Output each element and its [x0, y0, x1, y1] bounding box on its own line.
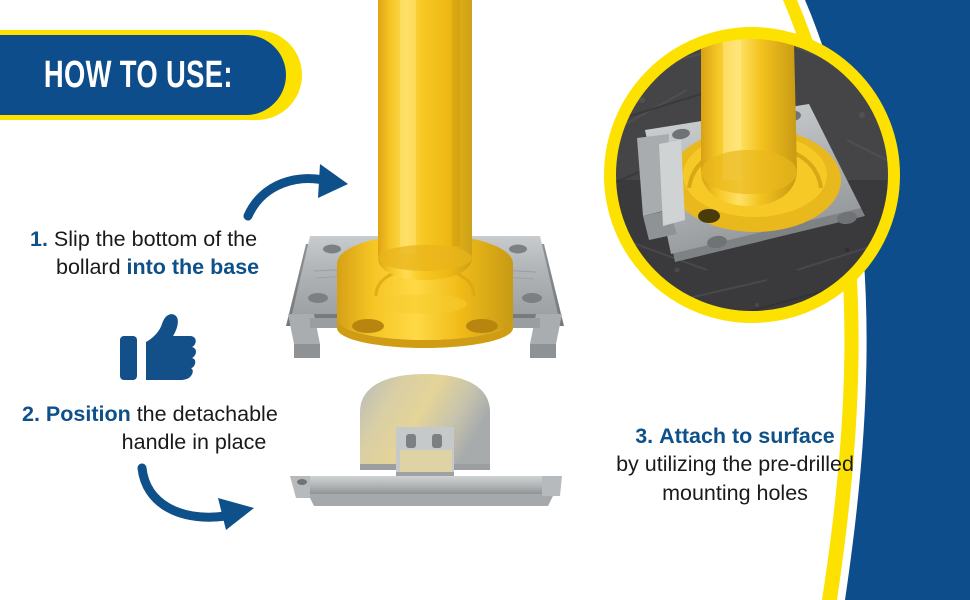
step-3-line1-highlight: Attach to surface [659, 424, 835, 448]
mounting-hole [308, 293, 328, 303]
inset-tube-join [701, 150, 797, 194]
header-banner: HOW TO USE: [0, 30, 302, 120]
arrow1-head [318, 164, 348, 198]
step-1-line2-highlight: into the base [127, 255, 260, 279]
inset-bracket-face [659, 140, 685, 226]
tube-shadow [452, 0, 460, 246]
bracket-slot-left [406, 434, 416, 448]
handle-bar-front [308, 494, 554, 506]
base-slot-right [466, 319, 498, 333]
step-1-number: 1. [30, 227, 48, 251]
mounting-hole [522, 293, 542, 303]
step-1-line1: Slip the bottom of the [54, 227, 257, 251]
thumb-cuff [120, 336, 137, 380]
curved-arrow-down-right-icon [132, 458, 282, 542]
thumbs-up-icon [118, 312, 198, 386]
step-2-line1-plain: the detachable [131, 402, 278, 426]
tube-highlight [400, 0, 416, 254]
base-tab-right-foot [530, 344, 556, 358]
tube-base-join [378, 245, 472, 271]
step-1-line2-plain: bollard [56, 255, 127, 279]
base-slot-left [352, 319, 384, 333]
mounting-hole [509, 245, 527, 254]
bracket-slot-right [432, 434, 442, 448]
handle-bar-hole [297, 479, 307, 485]
step-3-line3: mounting holes [662, 481, 808, 505]
inset-circle-photo [597, 20, 907, 330]
base-tab-left-foot [294, 344, 320, 358]
thumb-hand [146, 314, 196, 380]
page-title: HOW TO USE: [39, 56, 232, 94]
step-2-line2: handle in place [122, 430, 267, 454]
bracket-face [400, 450, 452, 472]
step-2-text: 2. Position the detachable handle in pla… [22, 400, 332, 457]
handle-bar [302, 476, 548, 494]
step-2-number: 2. [22, 402, 40, 426]
step-1-text: 1. Slip the bottom of the bollard into t… [30, 225, 320, 282]
mounting-hole [323, 245, 341, 254]
step-2-line1-highlight: Position [46, 402, 131, 426]
step-3-line2: by utilizing the pre-drilled [616, 452, 854, 476]
arrow2-head [218, 498, 254, 530]
step-3-text: 3. Attach to surface by utilizing the pr… [580, 422, 890, 507]
banner-blue-fill: HOW TO USE: [0, 35, 286, 115]
handle-bar-end-right [542, 476, 562, 496]
infographic-canvas: HOW TO USE: [0, 0, 970, 600]
curved-arrow-up-right-icon [240, 150, 370, 230]
weld-bead [383, 294, 467, 314]
arrow2-shaft [142, 468, 226, 517]
inset-base-hole [698, 209, 720, 223]
step-3-number: 3. [635, 424, 653, 448]
